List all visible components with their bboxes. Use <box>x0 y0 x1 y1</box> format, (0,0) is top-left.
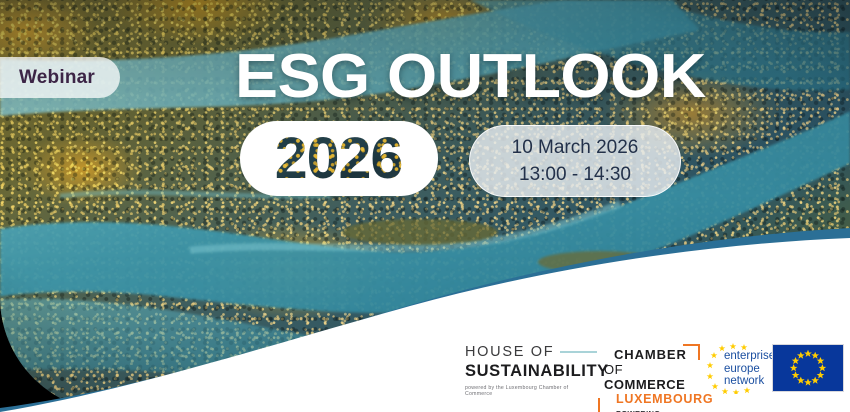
page-title: ESG OUTLOOK <box>226 46 715 108</box>
logo-house-of-sustainability: HOUSE OF SUSTAINABILITY powered by the L… <box>465 344 597 397</box>
coc-line2: OF COMMERCE <box>604 362 694 392</box>
year-label: 2026 <box>275 130 403 188</box>
bracket-bottom-left-vertical-icon <box>598 398 600 412</box>
hos-line2: SUSTAINABILITY <box>465 362 597 381</box>
eu-star-circle-icon <box>773 345 843 391</box>
coc-line2-of: OF <box>604 362 623 377</box>
logo-enterprise-europe-network: enterprise europe network <box>704 342 770 394</box>
een-line3: network <box>724 375 775 388</box>
webinar-badge: Webinar <box>0 57 120 98</box>
webinar-promo-banner: Webinar ESG OUTLOOK 2026 10 March 2026 1… <box>0 0 850 412</box>
bracket-top-right-vertical-icon <box>698 344 700 360</box>
coc-line3: LUXEMBOURG <box>604 392 694 406</box>
coc-line1: CHAMBER <box>604 347 694 362</box>
event-date: 10 March 2026 <box>512 135 639 160</box>
een-wordmark: enterprise europe network <box>724 350 775 388</box>
hos-tagline: powered by the Luxembourg Chamber of Com… <box>465 385 597 397</box>
logo-chamber-of-commerce: CHAMBER OF COMMERCE LUXEMBOURG POWERING … <box>598 342 700 412</box>
event-time: 13:00 - 14:30 <box>519 162 631 187</box>
webinar-badge-label: Webinar <box>19 67 95 89</box>
year-pill: 2026 <box>240 121 438 196</box>
een-line2: europe <box>724 363 775 376</box>
hos-line1: HOUSE OF <box>465 344 554 360</box>
event-datetime-pill: 10 March 2026 13:00 - 14:30 <box>469 125 681 197</box>
logo-european-union-flag <box>772 344 844 392</box>
hos-rule <box>560 351 597 353</box>
een-line1: enterprise <box>724 350 775 363</box>
coc-line2-commerce: COMMERCE <box>604 377 685 392</box>
